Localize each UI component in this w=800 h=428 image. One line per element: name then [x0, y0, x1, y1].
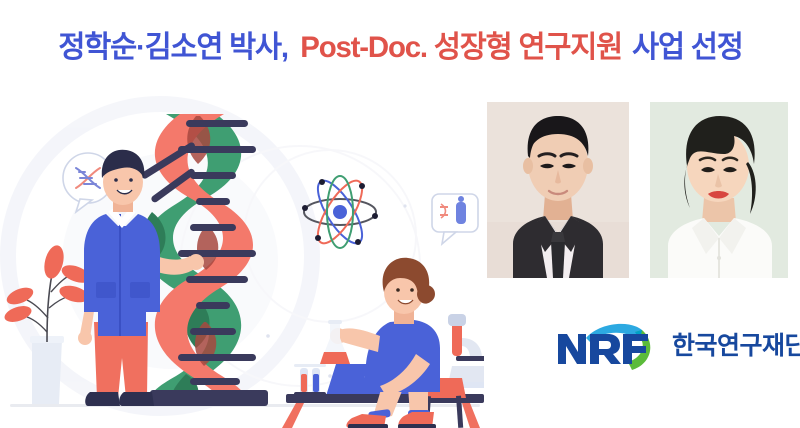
nrf-mark-svg: [556, 320, 664, 372]
page-title: 정학순·김소연 박사, Post-Doc. 성장형 연구지원 사업 선정: [0, 22, 800, 74]
title-segment-outcome: 사업 선정: [632, 33, 742, 63]
title-segment-program: Post-Doc. 성장형 연구지원: [300, 33, 622, 63]
nrf-logo-korean-text: 한국연구재단: [672, 334, 800, 359]
laboratory-illustration: [0, 86, 484, 428]
announcement-banner: 정학순·김소연 박사, Post-Doc. 성장형 연구지원 사업 선정: [0, 0, 800, 428]
portrait-jeong-haksoon: [487, 102, 629, 278]
illustration-svg: [0, 86, 484, 428]
dna-base: [150, 390, 268, 406]
nrf-logo: 한국연구재단: [556, 318, 786, 374]
portrait-kim-soyeon: [650, 102, 788, 278]
title-segment-names: 정학순·김소연 박사,: [59, 33, 289, 63]
nrf-logo-mark: [556, 320, 664, 372]
portrait-1-svg: [487, 102, 629, 278]
portrait-2-svg: [650, 102, 788, 278]
